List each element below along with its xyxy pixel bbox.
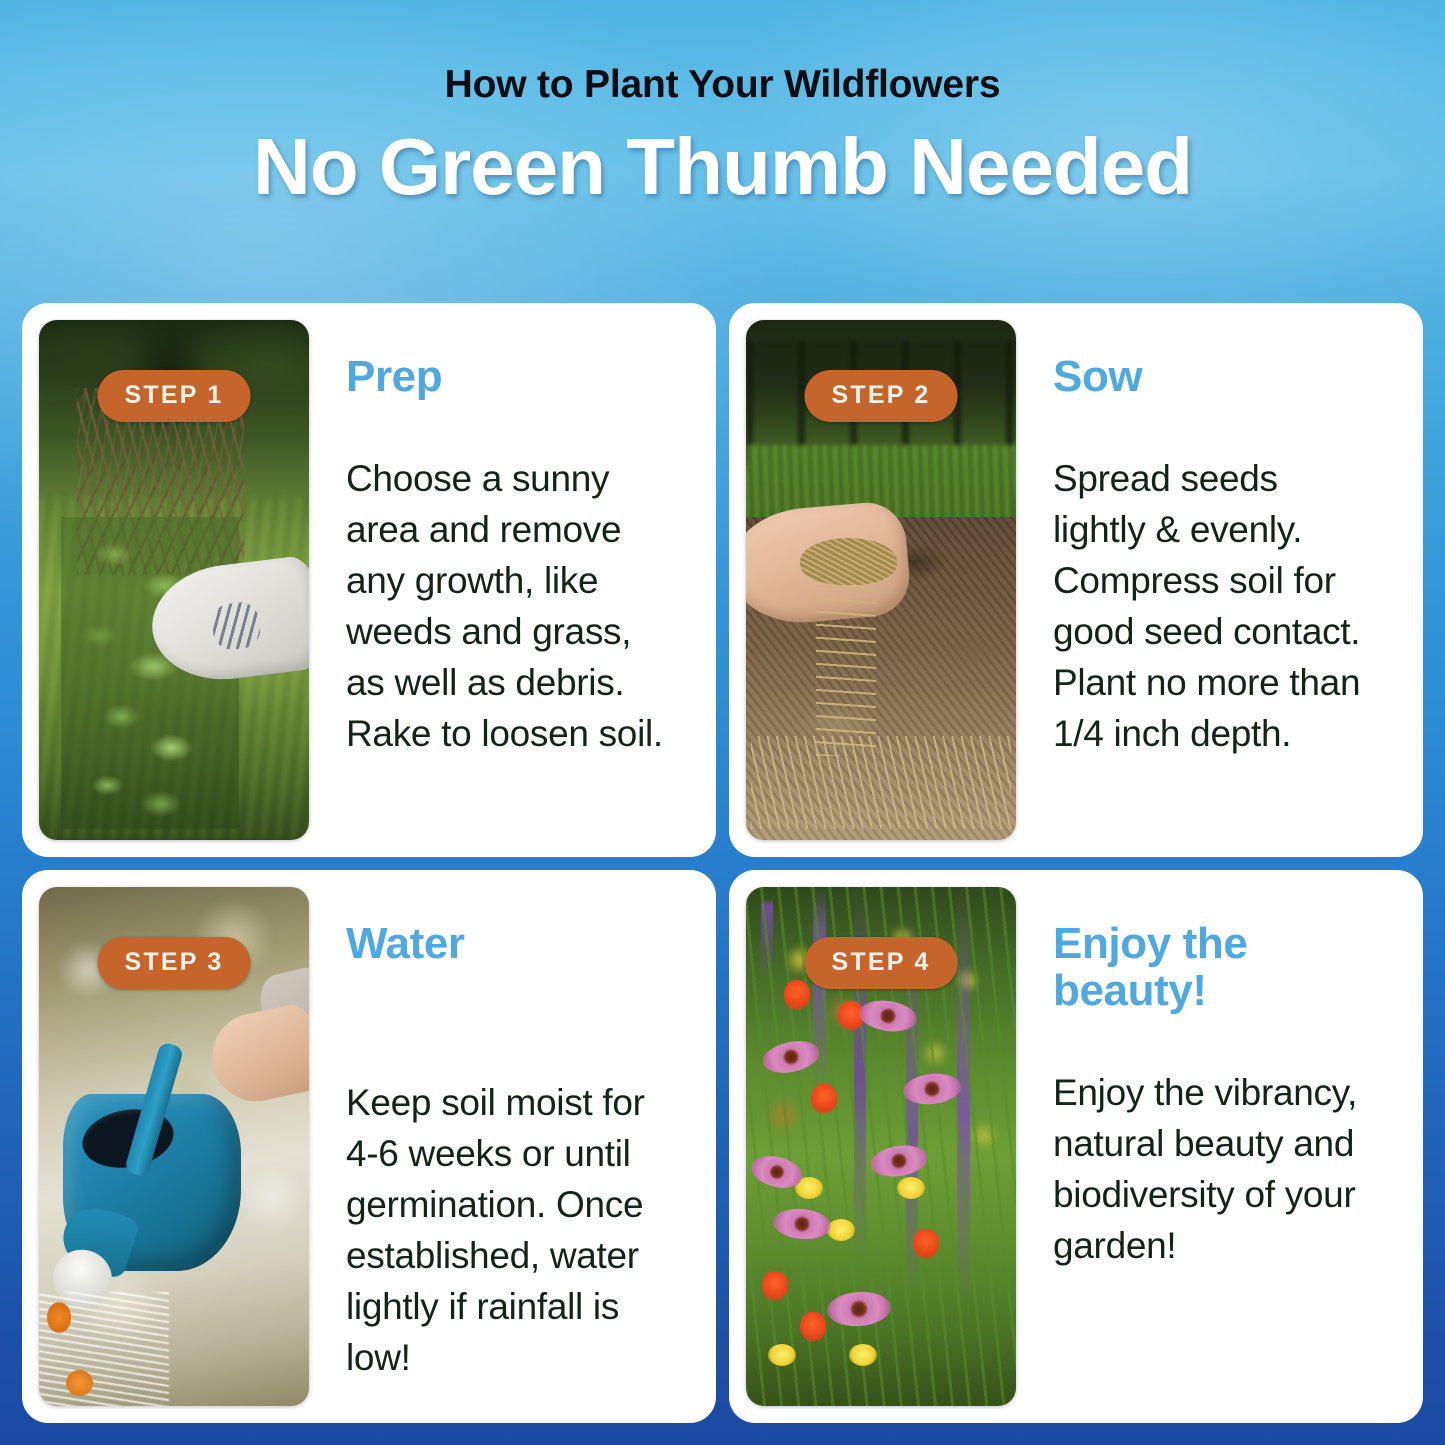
step-1-body: Prep Choose a sunny area and remove any … (309, 320, 699, 840)
poster-headline: No Green Thumb Needed (0, 125, 1445, 209)
step-3-badge: STEP 3 (98, 937, 251, 989)
step-card-3: STEP 3 Water Keep soil moist for 4-6 wee… (22, 870, 716, 1424)
step-1-badge: STEP 1 (98, 370, 251, 422)
steps-grid: STEP 1 Prep Choose a sunny area and remo… (22, 303, 1423, 1423)
step-3-text: Keep soil moist for 4-6 weeks or until g… (346, 1077, 673, 1383)
step-3-photo: STEP 3 (39, 887, 309, 1407)
infographic-poster: How to Plant Your Wildflowers No Green T… (0, 0, 1445, 1445)
step-4-text: Enjoy the vibrancy, natural beauty and b… (1053, 1067, 1380, 1271)
step-2-photo: STEP 2 (746, 320, 1016, 840)
step-card-2: STEP 2 Sow Spread seeds lightly & evenly… (729, 303, 1423, 857)
step-4-badge: STEP 4 (805, 937, 958, 989)
step-card-4: STEP 4 Enjoy the beauty! Enjoy the vibra… (729, 870, 1423, 1424)
poster-kicker: How to Plant Your Wildflowers (0, 64, 1445, 107)
step-4-body: Enjoy the beauty! Enjoy the vibrancy, na… (1016, 887, 1406, 1407)
step-1-text: Choose a sunny area and remove any growt… (346, 453, 673, 759)
step-3-title: Water (346, 920, 673, 968)
step-2-text: Spread seeds lightly & evenly. Compress … (1053, 453, 1380, 759)
poster-header: How to Plant Your Wildflowers No Green T… (0, 0, 1445, 209)
step-4-title: Enjoy the beauty! (1053, 920, 1380, 1015)
step-card-1: STEP 1 Prep Choose a sunny area and remo… (22, 303, 716, 857)
step-3-body: Water Keep soil moist for 4-6 weeks or u… (309, 887, 699, 1407)
step-1-photo: STEP 1 (39, 320, 309, 840)
step-1-title: Prep (346, 353, 673, 401)
step-4-photo: STEP 4 (746, 887, 1016, 1407)
step-2-body: Sow Spread seeds lightly & evenly. Compr… (1016, 320, 1406, 840)
step-2-badge: STEP 2 (805, 370, 958, 422)
step-2-title: Sow (1053, 353, 1380, 401)
